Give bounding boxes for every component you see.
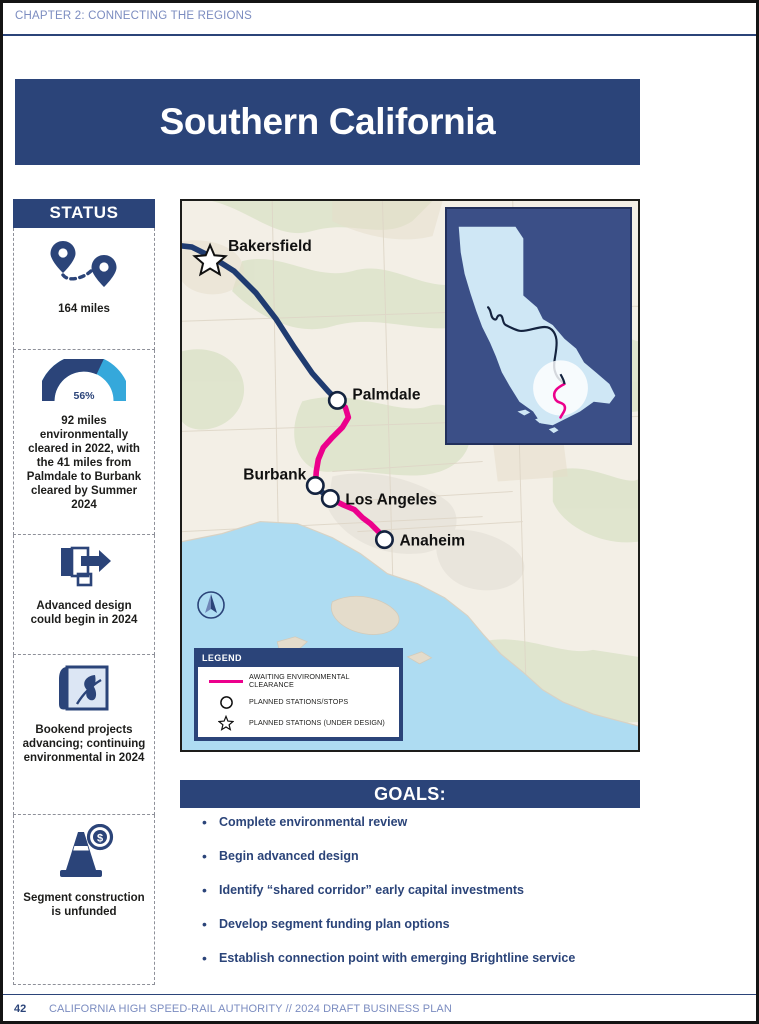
- status-header: STATUS: [13, 199, 155, 228]
- station-marker-anaheim: [376, 531, 392, 547]
- goals-banner: GOALS:: [180, 780, 640, 808]
- station-label-los-angeles: Los Angeles: [345, 492, 437, 509]
- goal-item: • Begin advanced design: [193, 849, 663, 863]
- status-item-advanced-design: Advanced design could begin in 2024: [13, 535, 155, 655]
- status-item-text: 164 miles: [58, 302, 110, 316]
- page-number: 42: [14, 1003, 26, 1015]
- page-title-banner: Southern California: [15, 79, 640, 165]
- goal-item: • Identify “shared corridor” early capit…: [193, 883, 663, 897]
- goal-bullet-icon: •: [193, 815, 219, 829]
- north-arrow-icon: [196, 590, 226, 620]
- status-item-text: Segment construction is unfunded: [20, 891, 148, 919]
- station-marker-los-angeles: [322, 490, 338, 506]
- status-item-text: Bookend projects advancing; continuing e…: [20, 723, 148, 765]
- goal-item: • Develop segment funding plan options: [193, 917, 663, 931]
- design-arrow-icon: [55, 544, 113, 595]
- goals-list: • Complete environmental review • Begin …: [193, 815, 663, 985]
- goal-text: Identify “shared corridor” early capital…: [219, 883, 524, 897]
- legend-label: PLANNED STATIONS/STOPS: [249, 698, 348, 707]
- legend-row: PLANNED STATIONS (UNDER DESIGN): [203, 715, 394, 731]
- star-marker-icon: [203, 715, 249, 731]
- gauge-donut-icon: 56%: [42, 359, 126, 410]
- goal-text: Establish connection point with emerging…: [219, 951, 575, 965]
- svg-text:$: $: [97, 833, 103, 845]
- status-item-cleared: 56% 92 miles environmentally cleared in …: [13, 350, 155, 535]
- station-label-palmdale: Palmdale: [352, 386, 421, 403]
- map-legend: LEGEND AWAITING ENVIRONMENTAL CLEARANCE …: [194, 648, 403, 741]
- station-marker-palmdale: [329, 392, 345, 408]
- goal-text: Begin advanced design: [219, 849, 359, 863]
- station-label-burbank: Burbank: [243, 467, 306, 484]
- page: CHAPTER 2: CONNECTING THE REGIONS Southe…: [0, 0, 759, 1024]
- status-item-bookend: Bookend projects advancing; continuing e…: [13, 655, 155, 815]
- chapter-header: CHAPTER 2: CONNECTING THE REGIONS: [15, 10, 252, 22]
- status-item-text: 92 miles environmentally cleared in 2022…: [20, 414, 148, 512]
- footer-rule: [3, 994, 756, 996]
- legend-row: AWAITING ENVIRONMENTAL CLEARANCE: [203, 673, 394, 690]
- california-state-inset: [445, 207, 632, 445]
- status-item-miles: 164 miles: [13, 228, 155, 350]
- route-pins-icon: [47, 237, 121, 298]
- goal-bullet-icon: •: [193, 849, 219, 863]
- status-item-text: Advanced design could begin in 2024: [20, 599, 148, 627]
- legend-title: LEGEND: [198, 651, 399, 667]
- goal-bullet-icon: •: [193, 951, 219, 965]
- legend-row: PLANNED STATIONS/STOPS: [203, 695, 394, 710]
- status-column: STATUS 164 miles 56%: [13, 199, 155, 985]
- goal-text: Develop segment funding plan options: [219, 917, 450, 931]
- status-item-unfunded: $ Segment construction is unfunded: [13, 815, 155, 985]
- legend-label: PLANNED STATIONS (UNDER DESIGN): [249, 719, 385, 728]
- station-label-bakersfield: Bakersfield: [228, 238, 312, 255]
- goal-bullet-icon: •: [193, 883, 219, 897]
- gauge-percent-label: 56%: [73, 390, 95, 402]
- cone-dollar-icon: $: [54, 824, 114, 887]
- legend-label: AWAITING ENVIRONMENTAL CLEARANCE: [249, 673, 394, 690]
- goal-item: • Establish connection point with emergi…: [193, 951, 663, 965]
- page-title: Southern California: [160, 101, 496, 143]
- header-rule: [3, 34, 756, 36]
- map-panel[interactable]: Bakersfield Palmdale Burbank Los Angeles…: [180, 199, 640, 752]
- blueprint-leaf-icon: [57, 664, 111, 719]
- circle-marker-icon: [203, 695, 249, 710]
- station-marker-burbank: [307, 477, 323, 493]
- goal-item: • Complete environmental review: [193, 815, 663, 829]
- station-label-anaheim: Anaheim: [399, 533, 465, 550]
- magenta-line-icon: [203, 680, 249, 684]
- goals-heading: GOALS:: [374, 784, 446, 805]
- goal-text: Complete environmental review: [219, 815, 407, 829]
- goal-bullet-icon: •: [193, 917, 219, 931]
- footer-text: CALIFORNIA HIGH SPEED-RAIL AUTHORITY // …: [49, 1003, 452, 1015]
